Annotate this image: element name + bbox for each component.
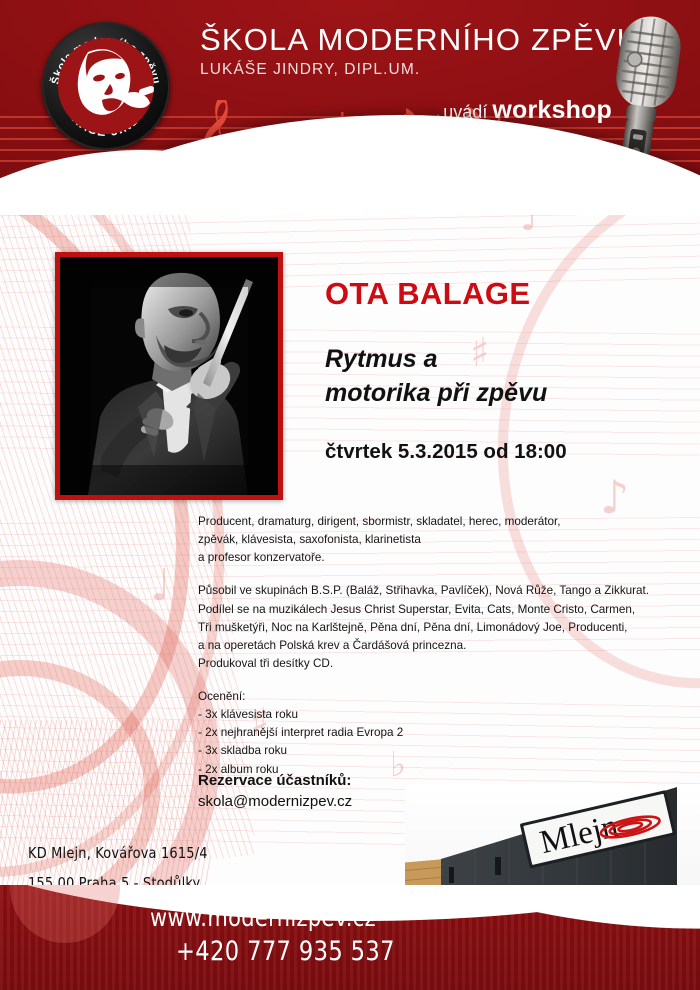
biography-block: Producent, dramaturg, dirigent, sbormist… <box>198 513 663 779</box>
award-item: - 3x skladba roku <box>198 742 663 760</box>
awards-list: - 3x klávesista roku - 2x nejhranější in… <box>198 706 663 779</box>
roles-line-2: zpěvák, klávesista, saxofonista, klarine… <box>198 533 421 546</box>
award-item: - 3x klávesista roku <box>198 706 663 724</box>
subtitle-line-1: Rytmus a <box>325 343 675 377</box>
career-paragraph: Působil ve skupinách B.S.P. (Baláž, Stři… <box>198 582 663 673</box>
reservation-email[interactable]: skola@modernizpev.cz <box>198 793 352 810</box>
subtitle-line-2: motorika při zpěvu <box>325 377 675 411</box>
reservation-block: Rezervace účastníků: skola@modernizpev.c… <box>198 772 352 810</box>
page-title: OTA BALAGE <box>325 276 531 312</box>
awards-heading: Ocenění: <box>198 688 663 706</box>
career-line-5: Produkoval tři desítky CD. <box>198 657 333 670</box>
roles-line-1: Producent, dramaturg, dirigent, sbormist… <box>198 515 560 528</box>
logo-inner-disc <box>58 38 154 134</box>
event-datetime: čtvrtek 5.3.2015 od 18:00 <box>325 440 567 464</box>
award-item: - 2x nejhranější interpret radia Evropa … <box>198 724 663 742</box>
watermark-note-icon: ♩ <box>150 560 171 611</box>
school-logo[interactable]: Škola moderního zpěvu LUKÁŠE JINDRY <box>42 22 170 150</box>
singer-face-logo-icon <box>58 38 154 134</box>
website-url[interactable]: www.modernizpev.cz <box>150 903 393 932</box>
reservation-heading: Rezervace účastníků: <box>198 772 352 789</box>
conductor-photo <box>60 257 278 495</box>
poster-footer: www.modernizpev.cz +420 777 935 537 <box>0 885 700 990</box>
address-line-1: KD Mlejn, Kovářova 1615/4 <box>28 838 208 868</box>
roles-paragraph: Producent, dramaturg, dirigent, sbormist… <box>198 513 663 567</box>
phone-number[interactable]: +420 777 935 537 <box>176 936 395 967</box>
footer-contact: www.modernizpev.cz +420 777 935 537 <box>150 903 411 967</box>
career-line-2: Podílel se na muzikálech Jesus Christ Su… <box>198 603 635 616</box>
career-line-1: Působil ve skupinách B.S.P. (Baláž, Stři… <box>198 584 649 597</box>
roles-line-3: a profesor konzervatoře. <box>198 551 325 564</box>
workshop-subtitle: Rytmus a motorika při zpěvu <box>325 343 675 411</box>
poster: ♩ ♯ ♪ ♯ ♭ ♪ 𝄞 <box>0 0 700 990</box>
speaker-portrait <box>55 252 283 500</box>
brand-text-block: ŠKOLA MODERNÍHO ZPĚVU LUKÁŠE JINDRY, DIP… <box>200 24 600 79</box>
workshop-word: workshop <box>492 96 612 124</box>
school-subtitle: LUKÁŠE JINDRY, DIPL.UM. <box>200 61 600 79</box>
school-name: ŠKOLA MODERNÍHO ZPĚVU <box>200 24 600 57</box>
poster-header: 𝄞 <box>0 0 700 215</box>
career-line-4: a na operetách Polská krev a Čardášová p… <box>198 639 466 652</box>
career-line-3: Tři mušketýři, Noc na Karlštejně, Pěna d… <box>198 621 627 634</box>
